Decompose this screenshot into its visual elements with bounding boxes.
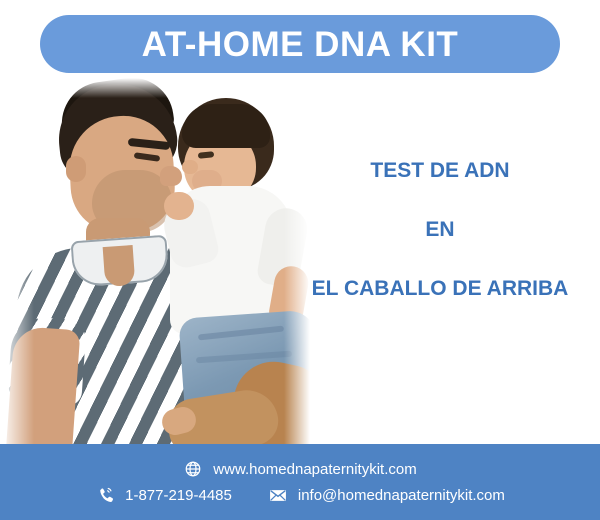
man-ear	[66, 156, 86, 182]
footer-website-row: www.homednapaternitykit.com	[183, 459, 416, 479]
headline-line-2: EN	[290, 219, 590, 240]
child-hand	[164, 192, 194, 220]
child-nose	[182, 160, 198, 174]
family-photo	[0, 78, 310, 458]
envelope-icon	[268, 485, 288, 505]
footer-email[interactable]: info@homednapaternitykit.com	[268, 485, 505, 505]
headline-line-3: EL CABALLO DE ARRIBA	[290, 278, 590, 299]
family-photo-illustration	[0, 78, 310, 458]
header-title: AT-HOME DNA KIT	[142, 27, 459, 62]
header-banner: AT-HOME DNA KIT	[40, 15, 560, 73]
headline-line-1: TEST DE ADN	[290, 160, 590, 181]
child-bangs	[182, 104, 270, 148]
headline-block: TEST DE ADN EN EL CABALLO DE ARRIBA	[290, 160, 590, 299]
man-arm	[6, 326, 81, 458]
man-chest	[103, 245, 136, 287]
phone-icon	[95, 485, 115, 505]
globe-icon	[183, 459, 203, 479]
footer-website[interactable]: www.homednapaternitykit.com	[183, 459, 416, 479]
footer-contact-bar: www.homednapaternitykit.com 1-877-219-44…	[0, 444, 600, 520]
footer-phone[interactable]: 1-877-219-4485	[95, 485, 232, 505]
promo-graphic: AT-HOME DNA KIT	[0, 0, 600, 520]
man-nose	[160, 166, 182, 186]
footer-phone-text: 1-877-219-4485	[125, 488, 232, 503]
footer-contact-row: 1-877-219-4485 info@homednapaternitykit.…	[95, 485, 505, 505]
footer-website-text: www.homednapaternitykit.com	[213, 462, 416, 477]
footer-email-text: info@homednapaternitykit.com	[298, 488, 505, 503]
